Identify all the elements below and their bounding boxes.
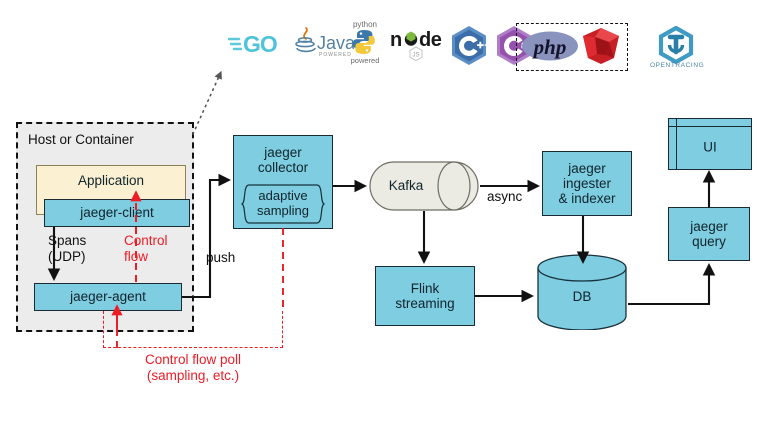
application-label: Application: [78, 173, 144, 188]
adaptive-line1: adaptive: [258, 189, 307, 204]
jaeger-agent-label: jaeger-agent: [70, 289, 146, 304]
jaeger-ingester-indexer-box: jaeger ingester & indexer: [542, 151, 632, 216]
svg-text:python: python: [353, 20, 377, 29]
spans-udp-label: Spans (UDP): [48, 233, 124, 264]
flink-line1: Flink: [411, 281, 440, 296]
jaeger-client-label: jaeger-client: [80, 205, 154, 220]
svg-text:php: php: [532, 35, 567, 59]
opentracing-caption: OPENTRACING: [650, 62, 702, 69]
ingester-line2: ingester: [563, 176, 611, 191]
jaeger-agent-box: jaeger-agent: [34, 283, 182, 311]
ui-label: UI: [669, 140, 751, 155]
svg-text:JS: JS: [412, 53, 419, 59]
poll-line2: (sampling, etc.): [113, 368, 273, 384]
control-flow-poll-caption: Control flow poll (sampling, etc.): [113, 352, 273, 383]
control-flow-poll-path: [103, 311, 283, 348]
kafka-cylinder: Kafka: [369, 161, 479, 211]
control-flow-line2: flow: [124, 249, 188, 265]
svg-text:n: n: [390, 29, 402, 51]
ui-window-box: UI: [668, 118, 752, 170]
jaeger-client-box: jaeger-client: [44, 199, 190, 227]
host-container-title: Host or Container: [28, 132, 188, 147]
collector-line1: jaeger: [264, 145, 302, 160]
node-logo: n de JS: [390, 26, 450, 64]
query-line1: jaeger: [690, 219, 728, 234]
spans-line1: Spans: [48, 233, 124, 249]
wire-container-to-libraries: [193, 72, 221, 134]
ingester-line3: & indexer: [558, 191, 615, 206]
cpp-logo: [447, 24, 491, 68]
spans-line2: (UDP): [48, 249, 124, 265]
kafka-label: Kafka: [351, 178, 461, 193]
adaptive-line2: sampling: [257, 204, 309, 219]
poll-line1: Control flow poll: [113, 352, 273, 368]
db-cylinder: DB: [536, 254, 628, 330]
diagram-canvas: GO Java POWERED python powered n: [0, 0, 768, 432]
flink-streaming-box: Flink streaming: [375, 266, 475, 326]
wire-db-to-query: [628, 265, 709, 304]
python-logo: python powered: [342, 18, 388, 66]
svg-text:de: de: [419, 29, 442, 51]
push-label: push: [206, 250, 252, 266]
async-label: async: [487, 189, 535, 205]
control-flow-line1: Control: [124, 233, 188, 249]
flink-line2: streaming: [395, 296, 454, 311]
db-label: DB: [536, 289, 628, 304]
svg-text:GO: GO: [243, 31, 277, 57]
opentracing-logo: OPENTRACING: [650, 22, 702, 70]
ruby-logo: [581, 27, 621, 65]
php-logo: php: [521, 29, 579, 63]
jaeger-query-box: jaeger query: [668, 207, 750, 261]
adaptive-sampling-box: adaptive sampling: [241, 184, 325, 224]
svg-text:powered: powered: [351, 56, 380, 65]
ingester-line1: jaeger: [568, 161, 606, 176]
ui-window-titlebar: [669, 119, 751, 127]
go-logo: GO: [228, 28, 286, 58]
query-line2: query: [692, 234, 726, 249]
control-flow-label: Control flow: [124, 233, 188, 264]
collector-line2: collector: [258, 160, 308, 175]
